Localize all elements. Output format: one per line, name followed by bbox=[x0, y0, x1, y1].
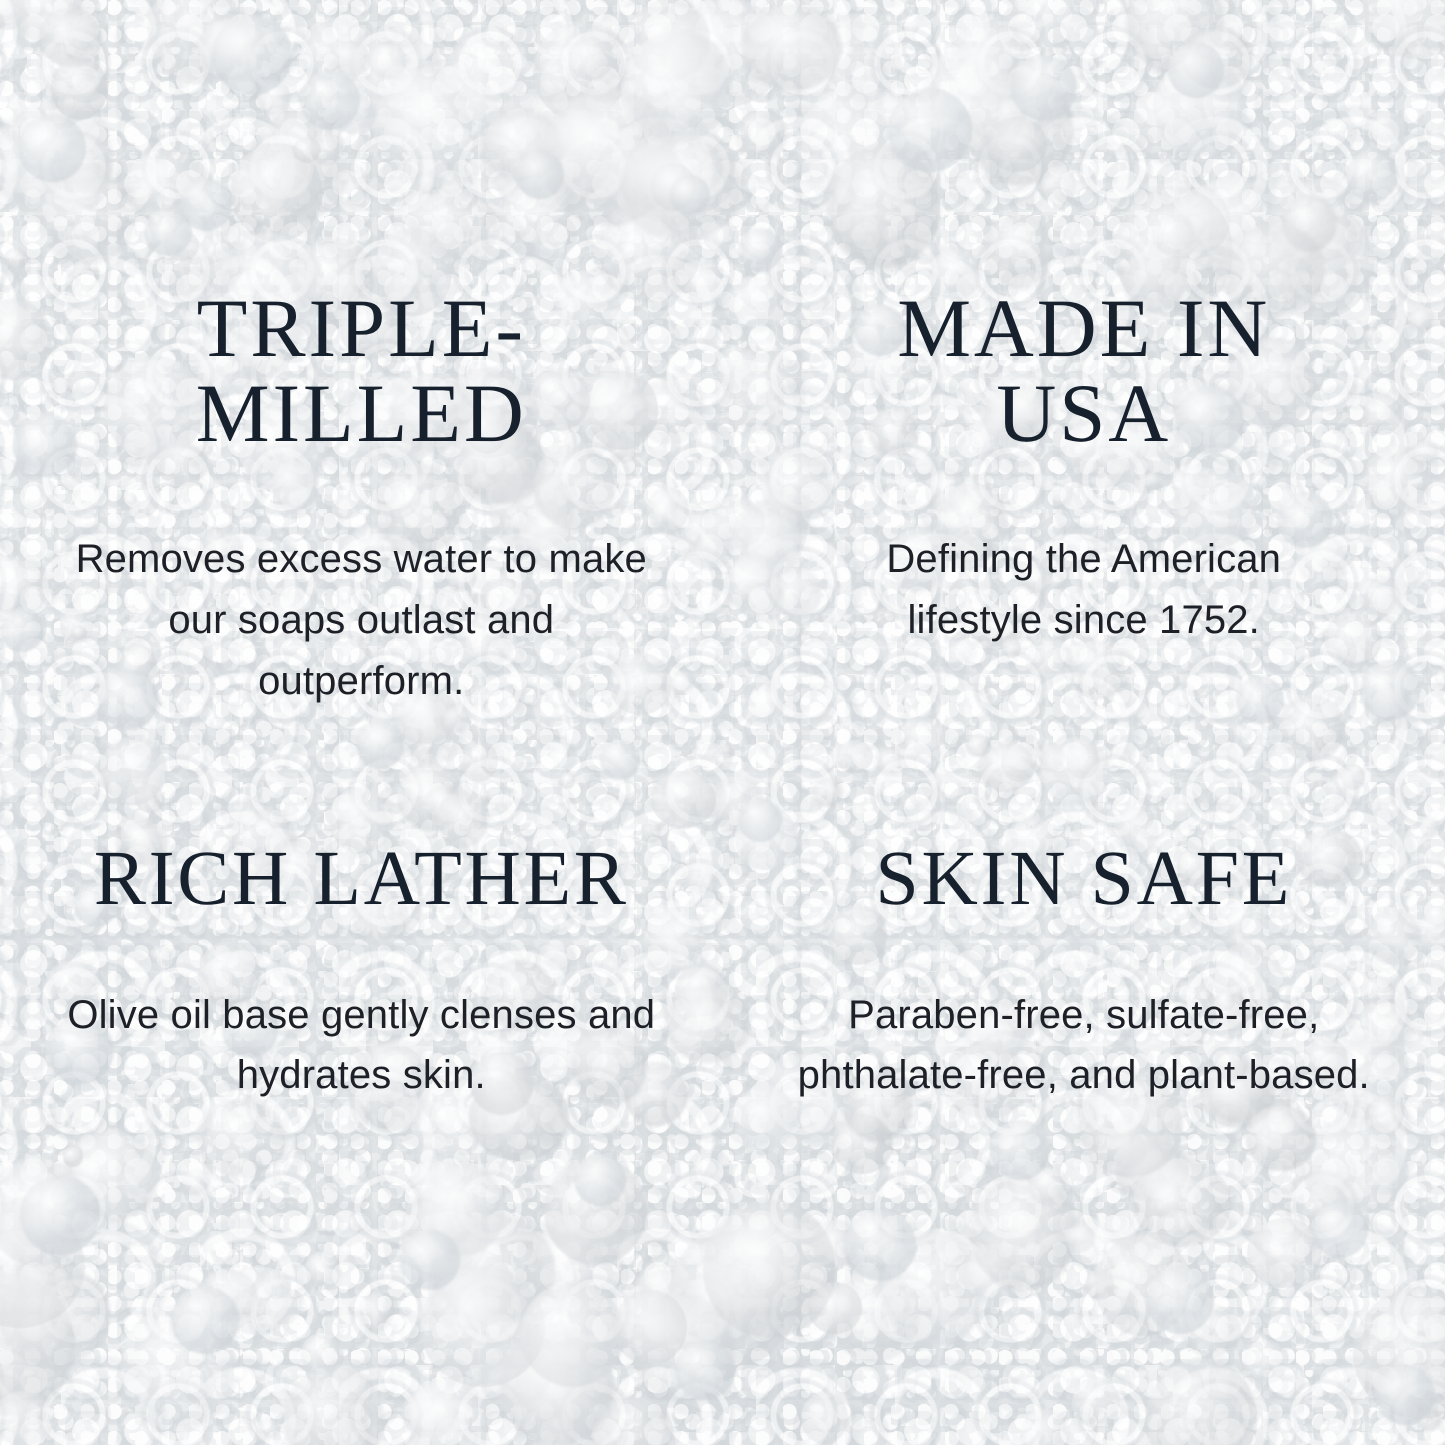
feature-description-skin-safe: Paraben-free, sulfate-free, phthalate-fr… bbox=[794, 985, 1374, 1107]
feature-description-rich-lather: Olive oil base gently clenses and hydrat… bbox=[41, 985, 681, 1107]
feature-description-triple-milled: Removes excess water to make our soaps o… bbox=[66, 529, 656, 711]
feature-cell-skin-safe: SKIN SAFE Paraben-free, sulfate-free, ph… bbox=[723, 723, 1445, 1445]
features-grid: TRIPLE-MILLED Removes excess water to ma… bbox=[0, 0, 1445, 1445]
feature-cell-rich-lather: RICH LATHER Olive oil base gently clense… bbox=[0, 723, 723, 1445]
feature-title-made-in-usa: MADE IN USA bbox=[874, 286, 1294, 455]
feature-title-skin-safe: SKIN SAFE bbox=[875, 839, 1292, 917]
feature-title-rich-lather: RICH LATHER bbox=[94, 839, 629, 917]
feature-description-made-in-usa: Defining the American lifestyle since 17… bbox=[824, 529, 1344, 651]
feature-cell-triple-milled: TRIPLE-MILLED Removes excess water to ma… bbox=[0, 0, 723, 723]
feature-title-triple-milled: TRIPLE-MILLED bbox=[146, 286, 576, 455]
feature-cell-made-in-usa: MADE IN USA Defining the American lifest… bbox=[723, 0, 1445, 723]
feature-grid-canvas: TRIPLE-MILLED Removes excess water to ma… bbox=[0, 0, 1445, 1445]
